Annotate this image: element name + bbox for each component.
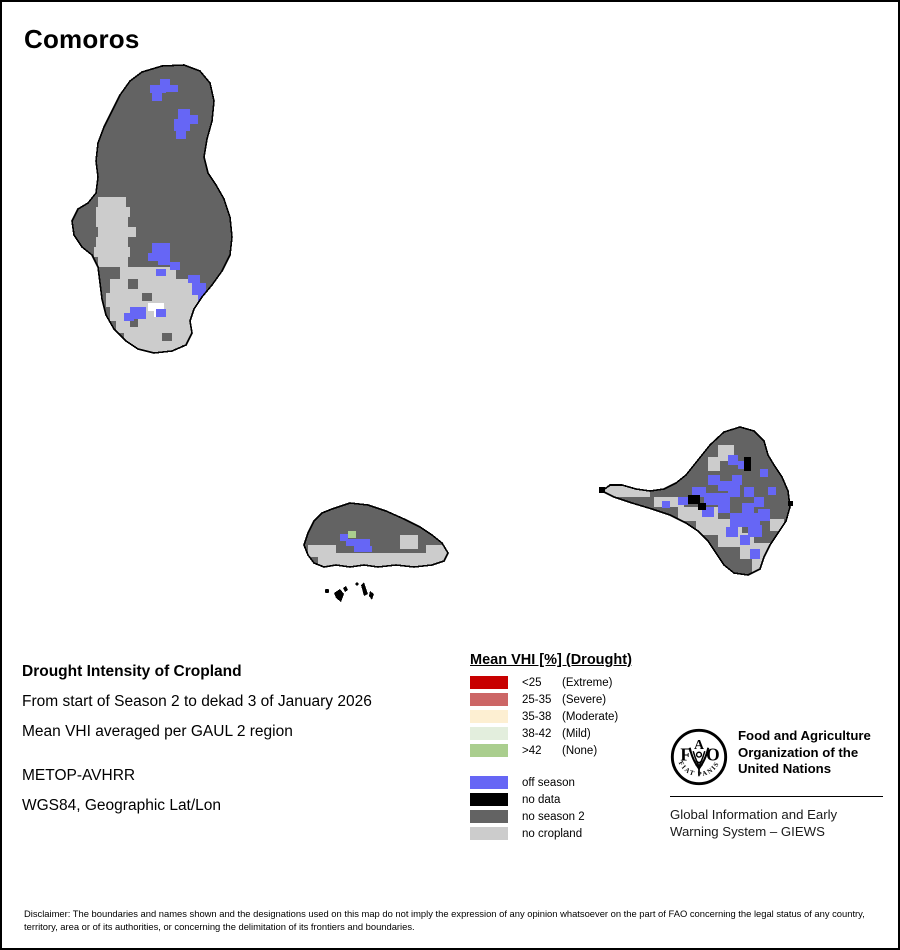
legend-item-mild: 38-42 (Mild) [470, 725, 670, 742]
legend-label-off-season: off season [522, 777, 575, 789]
map-canvas [2, 57, 898, 637]
legend-item-off-season: off season [470, 774, 670, 791]
legend-heading: Mean VHI [%] (Drought) [470, 652, 670, 668]
legend-swatch-moderate [470, 710, 508, 723]
legend-label-no-season-2: no season 2 [522, 811, 585, 823]
legend-name-moderate: (Moderate) [562, 711, 618, 723]
svg-text:A: A [694, 738, 704, 753]
fao-divider [670, 796, 883, 797]
svg-text:O: O [706, 744, 720, 764]
legend-swatch-none [470, 744, 508, 757]
desc-line-1: Drought Intensity of Cropland [22, 657, 452, 687]
giews-name: Global Information and Early Warning Sys… [670, 806, 885, 840]
desc-spacer [22, 747, 452, 761]
legend-name-none: (None) [562, 745, 597, 757]
fao-org-line-1: Food and Agriculture [738, 728, 871, 745]
map-legend: Mean VHI [%] (Drought) <25 (Extreme) 25-… [470, 652, 670, 842]
island-grande-comore [62, 57, 252, 367]
legend-swatch-severe [470, 693, 508, 706]
legend-label-no-cropland: no cropland [522, 828, 582, 840]
island-anjouan [592, 417, 802, 587]
legend-range-none: >42 [522, 745, 562, 757]
fao-org-name: Food and Agriculture Organization of the… [738, 728, 871, 778]
legend-swatch-mild [470, 727, 508, 740]
legend-item-no-data: no data [470, 791, 670, 808]
legend-swatch-off-season [470, 776, 508, 789]
legend-swatch-no-data [470, 793, 508, 806]
legend-range-moderate: 35-38 [522, 711, 562, 723]
legend-item-no-cropland: no cropland [470, 825, 670, 842]
legend-range-severe: 25-35 [522, 694, 562, 706]
desc-sensor: METOP-AVHRR [22, 761, 452, 791]
islets-nioumachoua [325, 582, 374, 602]
giews-line-1: Global Information and Early [670, 806, 885, 823]
giews-line-2: Warning System – GIEWS [670, 823, 885, 840]
legend-item-none: >42 (None) [470, 742, 670, 759]
legend-group-spacer [470, 759, 670, 774]
fao-org-line-2: Organization of the [738, 745, 871, 762]
legend-swatch-no-season-2 [470, 810, 508, 823]
desc-line-2: From start of Season 2 to dekad 3 of Jan… [22, 687, 452, 717]
island-moheli [297, 497, 457, 602]
fao-branding: F A O FIAT PANIS Food and Agriculture Or… [670, 728, 885, 840]
legend-range-extreme: <25 [522, 677, 562, 689]
fao-logo-icon: F A O FIAT PANIS [670, 728, 728, 786]
legend-range-mild: 38-42 [522, 728, 562, 740]
legend-label-no-data: no data [522, 794, 560, 806]
fao-org-line-3: United Nations [738, 761, 871, 778]
legend-name-extreme: (Extreme) [562, 677, 612, 689]
legend-name-mild: (Mild) [562, 728, 591, 740]
legend-item-moderate: 35-38 (Moderate) [470, 708, 670, 725]
disclaimer-text: Disclaimer: The boundaries and names sho… [24, 907, 880, 933]
legend-item-no-season-2: no season 2 [470, 808, 670, 825]
legend-item-severe: 25-35 (Severe) [470, 691, 670, 708]
legend-item-extreme: <25 (Extreme) [470, 674, 670, 691]
legend-name-severe: (Severe) [562, 694, 606, 706]
page-title: Comoros [24, 24, 140, 55]
desc-line-3: Mean VHI averaged per GAUL 2 region [22, 717, 452, 747]
legend-swatch-no-cropland [470, 827, 508, 840]
desc-projection: WGS84, Geographic Lat/Lon [22, 791, 452, 821]
legend-swatch-extreme [470, 676, 508, 689]
map-poster: Comoros [0, 0, 900, 950]
description-block: Drought Intensity of Cropland From start… [22, 657, 452, 821]
